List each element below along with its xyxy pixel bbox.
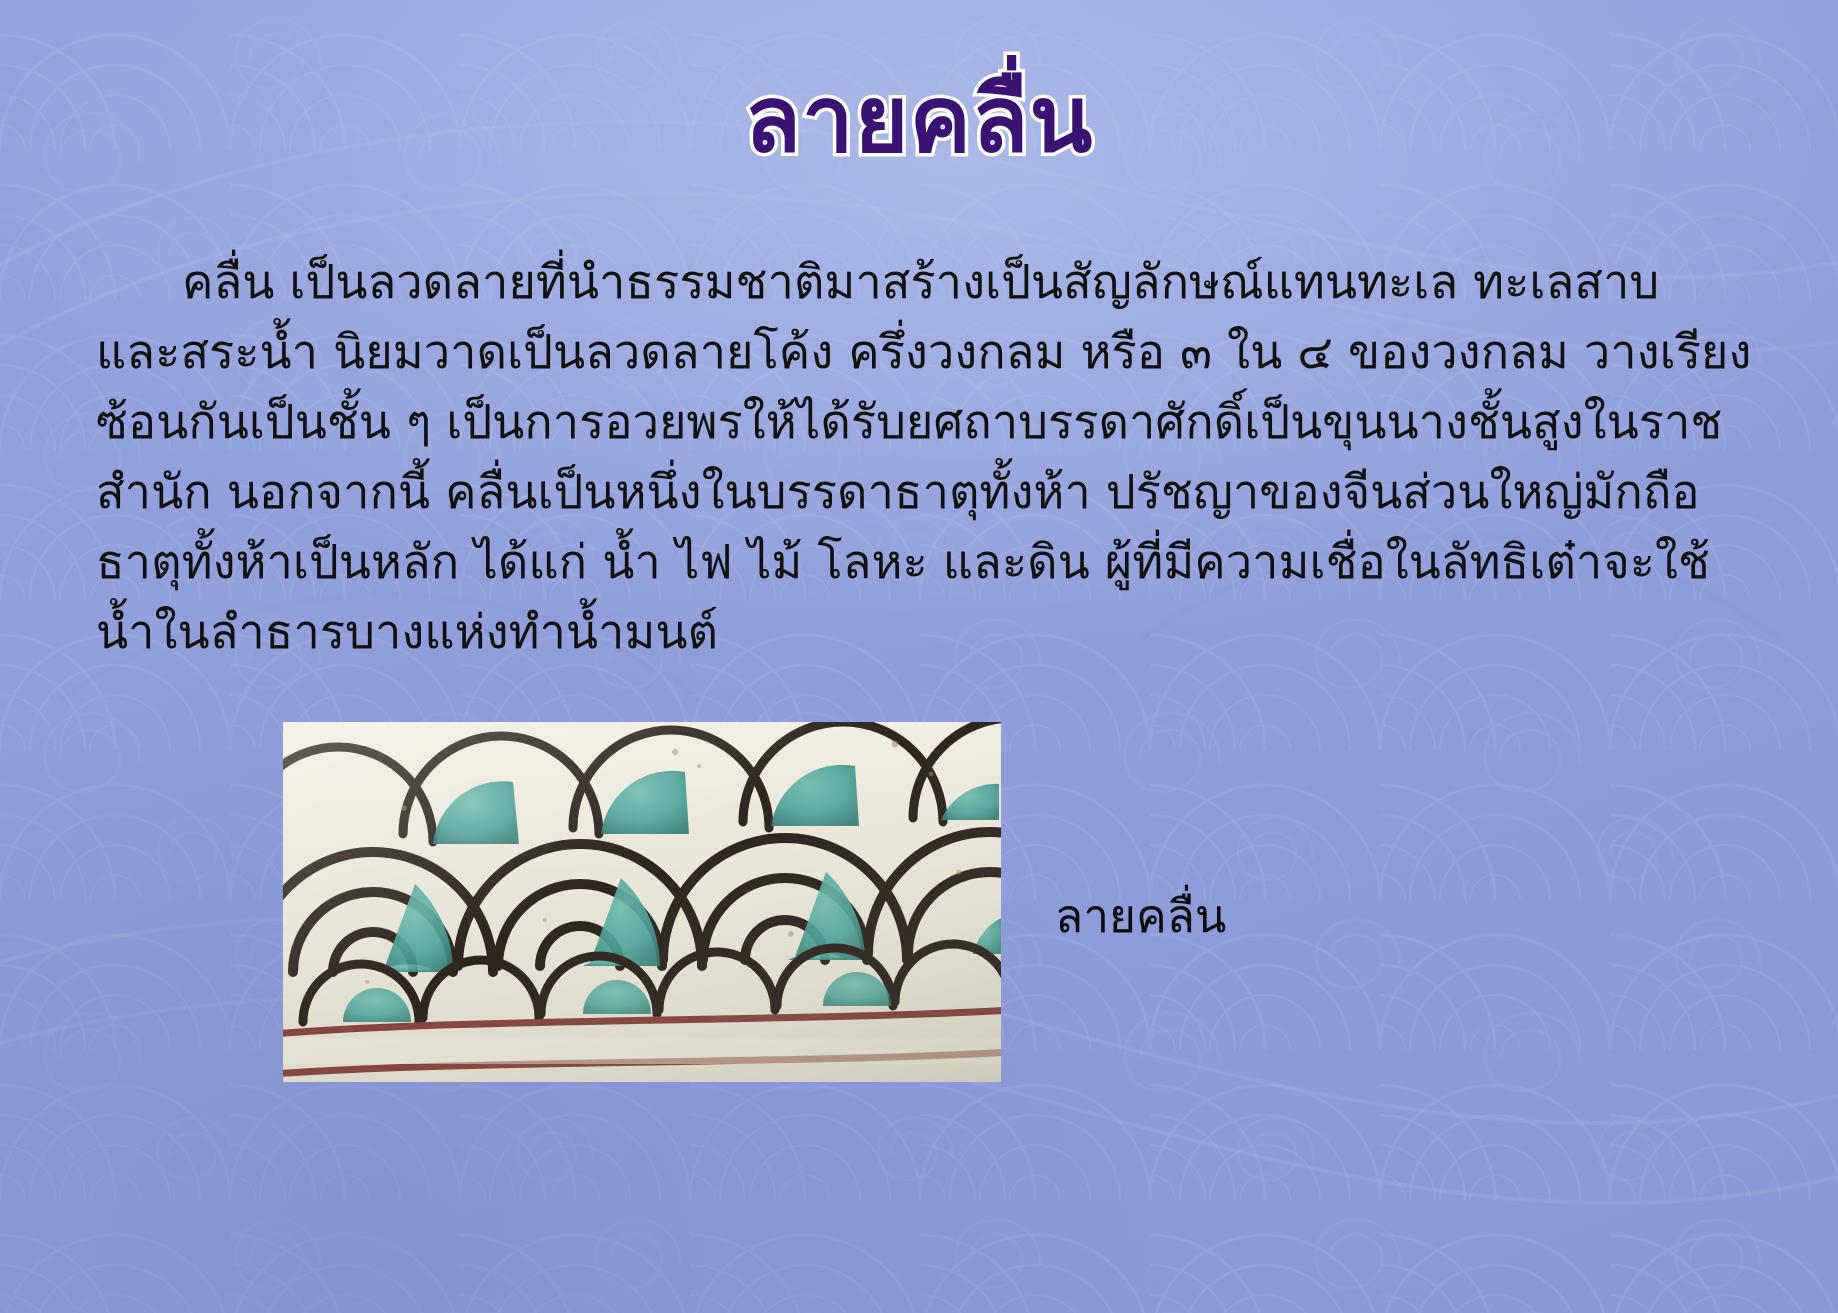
wave-motif-photo bbox=[283, 722, 1001, 1082]
slide-canvas: ลายคลื่น คลื่น เป็นลวดลายที่นำธรรมชาติมา… bbox=[0, 0, 1838, 1313]
body-paragraph: คลื่น เป็นลวดลายที่นำธรรมชาติมาสร้างเป็น… bbox=[96, 247, 1756, 667]
figure-caption: ลายคลื่น bbox=[1055, 880, 1226, 953]
page-title: ลายคลื่น bbox=[0, 72, 1838, 169]
ceramic-wave-illustration bbox=[283, 722, 1001, 1082]
